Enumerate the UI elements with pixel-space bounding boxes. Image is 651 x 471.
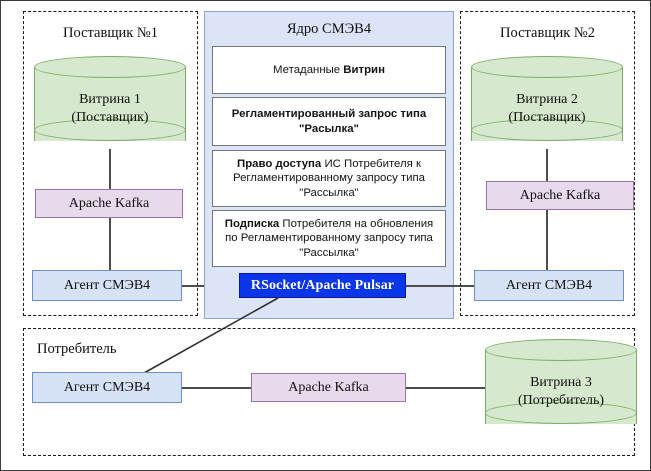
cylinder-label-line2: (Потребитель) xyxy=(485,392,637,410)
core-card-regulated-request-text: Регламентированный запрос типа "Расылка" xyxy=(218,107,440,136)
core-card-subscription-bold: Подписка xyxy=(225,218,279,230)
cylinder-label: Витрина 1 (Поставщик) xyxy=(34,91,186,127)
agent-smev4-supplier-1[interactable]: Агент СМЭВ4 xyxy=(32,270,182,301)
connector-vitrina1-kafka1 xyxy=(109,149,111,189)
cylinder-label-line1: Витрина 2 xyxy=(471,91,623,109)
connector-kafka1-agent1 xyxy=(109,218,111,270)
core-card-metadata[interactable]: Метаданные Витрин xyxy=(212,46,446,94)
zone-consumer-title: Потребитель xyxy=(37,341,117,358)
core-card-subscription-text: Подписка Потребителя на обновления по Ре… xyxy=(218,217,440,261)
core-card-regulated-request[interactable]: Регламентированный запрос типа "Расылка" xyxy=(212,97,446,146)
connector-vitrina2-kafka2 xyxy=(546,149,548,181)
core-card-regulated-request-bold: Регламентированный запрос типа "Расылка" xyxy=(232,108,426,135)
cylinder-label: Витрина 3 (Потребитель) xyxy=(485,374,637,410)
cylinder-label-line2: (Поставщик) xyxy=(471,109,623,127)
cylinder-top-ellipse xyxy=(34,56,186,78)
cylinder-vitrina-2: Витрина 2 (Поставщик) xyxy=(471,56,623,152)
cylinder-label: Витрина 2 (Поставщик) xyxy=(471,91,623,127)
connector-kafka2-agent2 xyxy=(546,210,548,270)
core-card-subscription[interactable]: Подписка Потребителя на обновления по Ре… xyxy=(212,210,446,267)
agent-smev4-supplier-2[interactable]: Агент СМЭВ4 xyxy=(474,270,624,301)
zone-supplier-2-title: Поставщик №2 xyxy=(460,25,635,42)
kafka-supplier-2[interactable]: Apache Kafka xyxy=(486,181,634,210)
transport-rsocket-apache-pulsar[interactable]: RSocket/Apache Pulsar xyxy=(239,273,406,298)
kafka-supplier-1[interactable]: Apache Kafka xyxy=(35,189,183,218)
core-card-access-right-bold: Право доступа xyxy=(237,158,321,170)
core-card-metadata-prefix: Метаданные xyxy=(273,64,343,76)
core-card-metadata-text: Метаданные Витрин xyxy=(273,63,385,78)
cylinder-label-line1: Витрина 3 xyxy=(485,374,637,392)
cylinder-label-line1: Витрина 1 xyxy=(34,91,186,109)
agent-smev4-consumer[interactable]: Агент СМЭВ4 xyxy=(32,372,182,403)
core-card-access-right-text: Право доступа ИС Потребителя к Регламент… xyxy=(218,157,440,201)
cylinder-top-ellipse xyxy=(471,56,623,78)
connector-consumer-agent-kafka xyxy=(182,387,251,389)
connector-kafka-vitrina3 xyxy=(406,387,485,389)
kafka-consumer[interactable]: Apache Kafka xyxy=(251,373,406,402)
diagram-canvas: Поставщик №1 Витрина 1 (Поставщик) Apach… xyxy=(0,0,651,471)
cylinder-vitrina-3: Витрина 3 (Потребитель) xyxy=(485,339,637,435)
zone-supplier-1-title: Поставщик №1 xyxy=(23,25,198,42)
cylinder-label-line2: (Поставщик) xyxy=(34,109,186,127)
core-card-metadata-bold: Витрин xyxy=(343,64,385,76)
core-card-access-right[interactable]: Право доступа ИС Потребителя к Регламент… xyxy=(212,150,446,207)
cylinder-vitrina-1: Витрина 1 (Поставщик) xyxy=(34,56,186,152)
cylinder-top-ellipse xyxy=(485,339,637,361)
core-panel-title: Ядро СМЭВ4 xyxy=(204,21,454,38)
